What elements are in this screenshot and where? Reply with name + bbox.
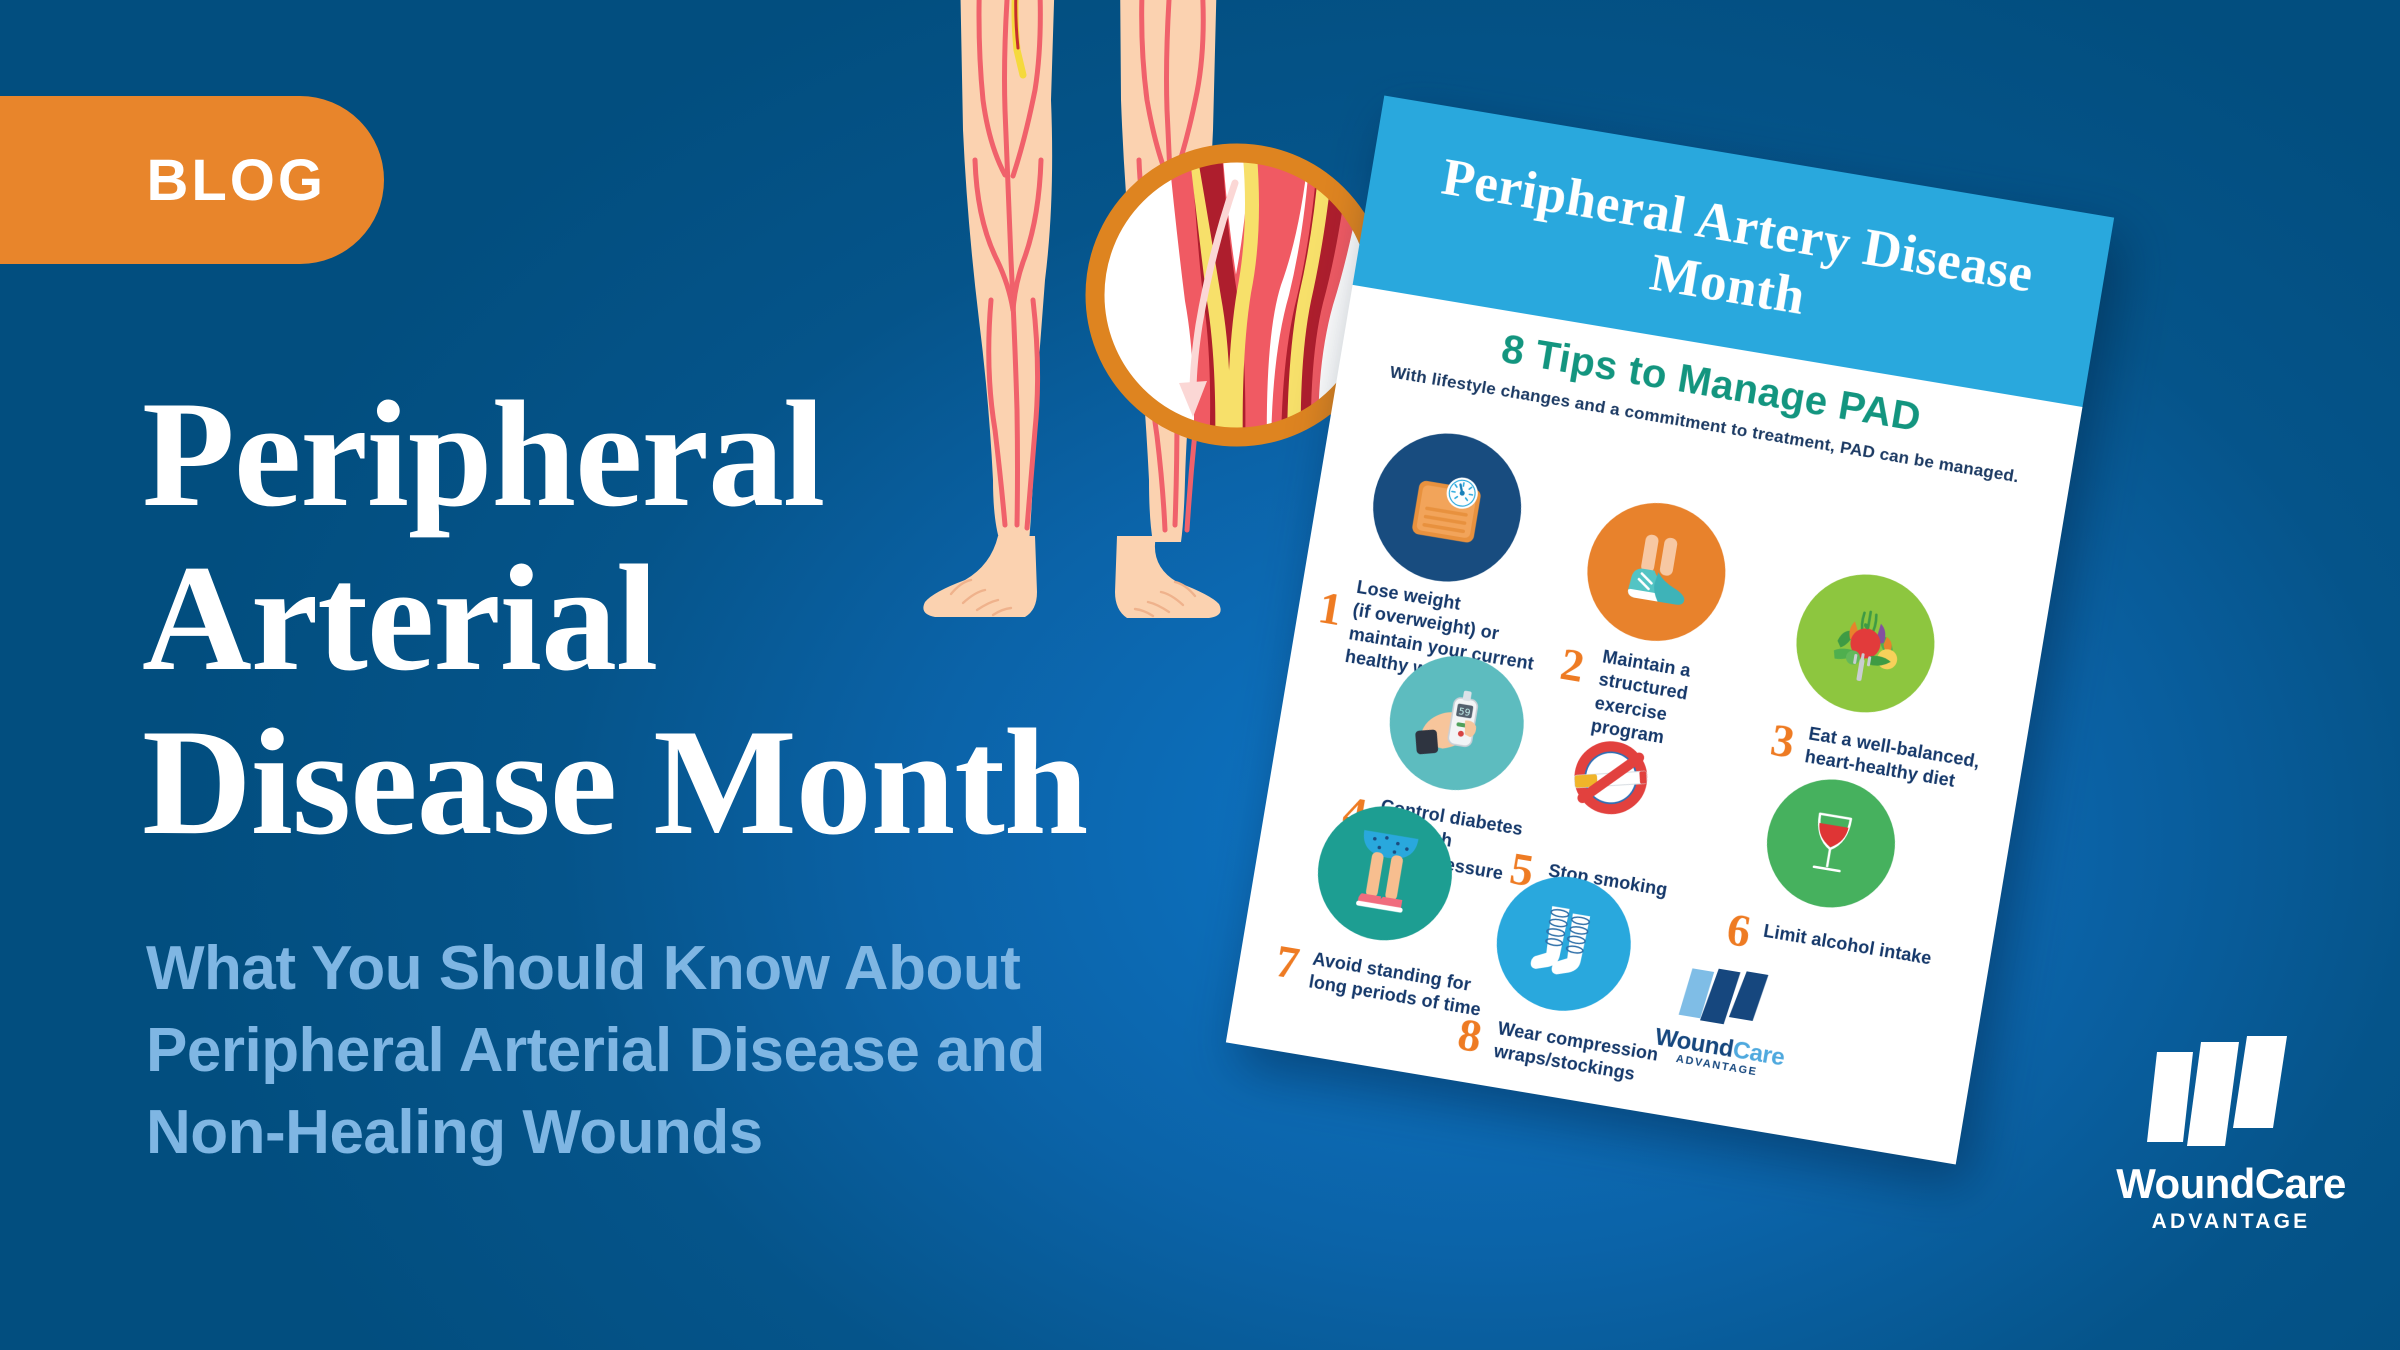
blog-badge[interactable]: BLOG	[0, 96, 384, 264]
tip-6-number: 6	[1724, 906, 1754, 955]
subheadline-line-1: What You Should Know About	[146, 928, 1346, 1010]
blog-badge-label: BLOG	[146, 147, 326, 214]
subheadline-line-2: Peripheral Arterial Disease and	[146, 1010, 1346, 1092]
bathroom-scale-icon	[1362, 422, 1532, 592]
hero-banner: BLOG Peripheral Arterial Disease Month W…	[0, 0, 2400, 1350]
page-subtitle: What You Should Know About Peripheral Ar…	[146, 928, 1346, 1173]
brand-logo-tagline: ADVANTAGE	[2106, 1210, 2356, 1234]
headline-line-3: Disease Month	[142, 700, 1322, 864]
tip-7-text: Avoid standing for long periods of time	[1307, 948, 1522, 1029]
tip-1-number: 1	[1315, 584, 1345, 633]
vegetables-fork-icon	[1786, 564, 1945, 723]
headline-line-2: Arterial	[142, 536, 1322, 700]
headline-line-1: Peripheral	[142, 372, 1322, 536]
svg-text:59: 59	[1458, 706, 1472, 719]
tip-6-text: Limit alcohol intake	[1762, 920, 1963, 976]
brand-logo-name: WoundCare	[2106, 1160, 2356, 1208]
pad-infographic-poster[interactable]: Peripheral Artery Disease Month 8 Tips t…	[1226, 96, 2114, 1165]
brand-logo[interactable]: WoundCare ADVANTAGE	[2106, 1030, 2356, 1260]
tip-3-number: 3	[1768, 717, 1798, 766]
subheadline-line-3: Non-Healing Wounds	[146, 1092, 1346, 1174]
tip-7-number: 7	[1272, 938, 1302, 987]
poster-brand-logo: WoundCare ADVANTAGE	[1645, 954, 1803, 1093]
wine-glass-icon	[1757, 770, 1904, 917]
page-title: Peripheral Arterial Disease Month	[142, 372, 1322, 864]
poster-surface: Peripheral Artery Disease Month 8 Tips t…	[1226, 96, 2114, 1165]
